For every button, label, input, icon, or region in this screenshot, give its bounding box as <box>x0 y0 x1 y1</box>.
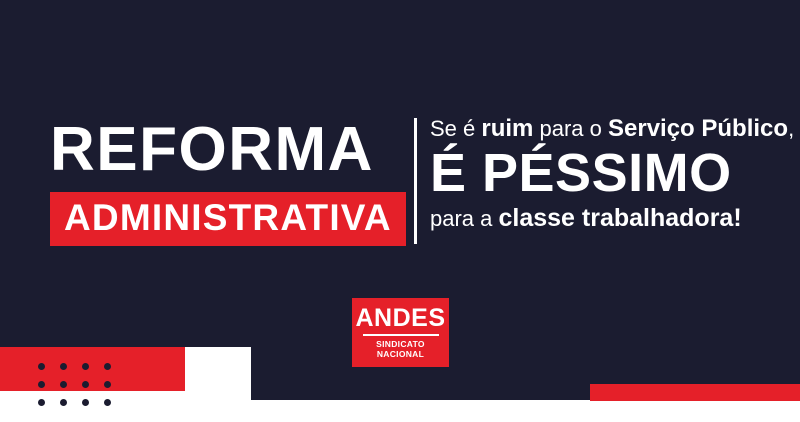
background-white-notch <box>185 366 251 422</box>
slogan-line-2: É PÉSSIMO <box>430 144 780 202</box>
dot <box>82 363 89 370</box>
campaign-banner: REFORMA ADMINISTRATIVA Se é ruim para o … <box>0 0 800 422</box>
slogan-text-servico-publico: Serviço Público <box>608 115 788 142</box>
dot <box>82 399 89 406</box>
slogan-text-para-a: para a <box>430 206 499 231</box>
vertical-divider <box>414 118 417 244</box>
dot <box>60 399 67 406</box>
slogan-text-se-e: Se é <box>430 116 481 141</box>
slogan-text-comma: , <box>788 116 794 141</box>
decorative-dot-grid <box>38 363 126 417</box>
dot <box>104 363 111 370</box>
dot <box>60 363 67 370</box>
dot <box>38 363 45 370</box>
logo-subtitle: SINDICATO NACIONAL <box>352 339 449 359</box>
slogan-block: Se é ruim para o Serviço Público, É PÉSS… <box>430 116 780 233</box>
slogan-text-classe-trabalhadora: classe trabalhadora! <box>499 204 742 232</box>
dot <box>104 381 111 388</box>
dot <box>38 399 45 406</box>
dot <box>104 399 111 406</box>
andes-logo: ANDES SINDICATO NACIONAL <box>352 298 449 367</box>
dot <box>60 381 67 388</box>
headline-block: REFORMA ADMINISTRATIVA <box>50 118 406 246</box>
headline-secondary: ADMINISTRATIVA <box>64 199 392 237</box>
slogan-text-ruim: ruim <box>481 115 533 142</box>
slogan-line-1: Se é ruim para o Serviço Público, <box>430 116 780 142</box>
slogan-text-para-o: para o <box>533 116 608 141</box>
headline-primary: REFORMA <box>50 118 406 182</box>
background-red-right-band <box>590 384 800 401</box>
dot <box>38 381 45 388</box>
headline-secondary-box: ADMINISTRATIVA <box>50 192 406 246</box>
logo-divider-rule <box>363 334 439 336</box>
dot <box>82 381 89 388</box>
slogan-line-3: para a classe trabalhadora! <box>430 204 780 233</box>
logo-wordmark: ANDES <box>352 305 449 331</box>
